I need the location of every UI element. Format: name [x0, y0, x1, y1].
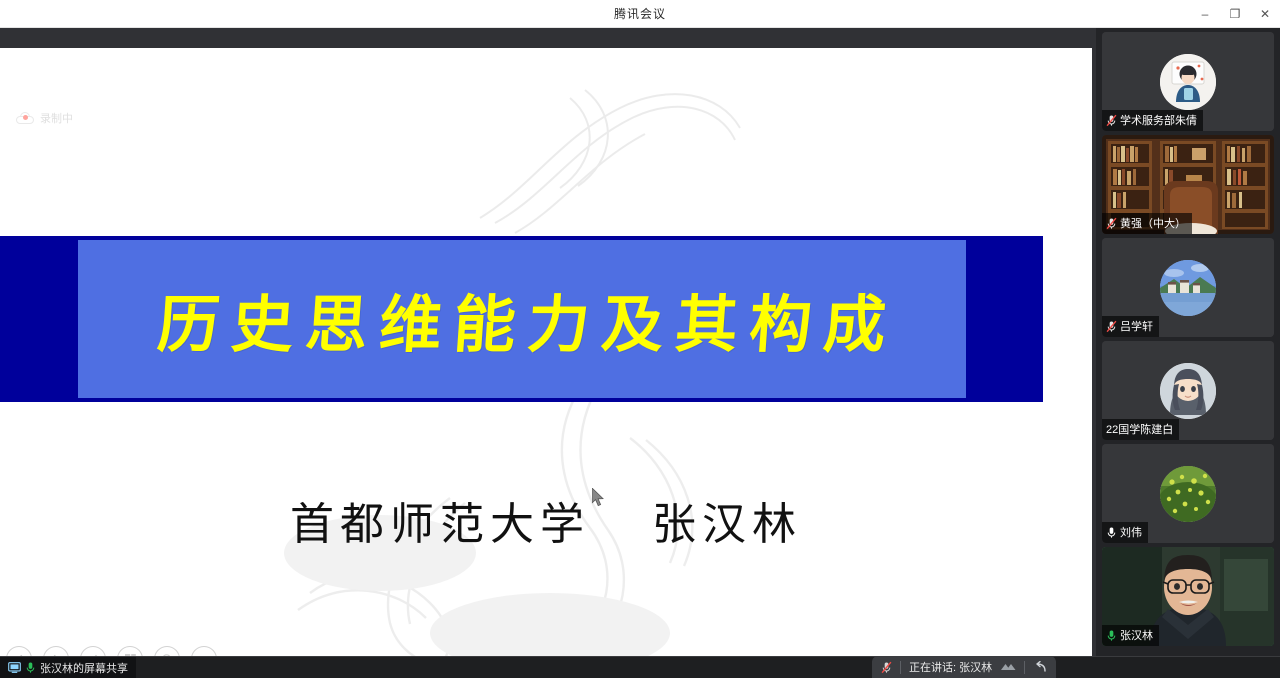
- zoom-button[interactable]: [154, 646, 180, 656]
- mic-muted-icon: [1106, 114, 1117, 127]
- arrow-back-icon[interactable]: [1033, 661, 1047, 673]
- participant-tile[interactable]: 刘伟: [1102, 444, 1274, 543]
- mic-muted-icon[interactable]: [881, 661, 892, 674]
- minimize-button[interactable]: –: [1190, 0, 1220, 28]
- participant-name: 张汉林: [1120, 627, 1153, 643]
- slide-title: 历史思维能力及其构成: [72, 240, 971, 398]
- speaking-indicator-bar[interactable]: 正在讲话: 张汉林: [872, 656, 1056, 678]
- participant-tile[interactable]: 黄强（中大）: [1102, 135, 1274, 234]
- previous-slide-button[interactable]: [6, 646, 32, 656]
- status-bar: 张汉林的屏幕共享 正在讲话: 张汉林: [0, 656, 1280, 678]
- participant-name: 吕学轩: [1120, 318, 1153, 334]
- screen-share-label: 张汉林的屏幕共享: [40, 660, 128, 676]
- speaking-label: 正在讲话: 张汉林: [909, 659, 992, 675]
- participant-name-bar: 刘伟: [1102, 522, 1148, 543]
- more-options-button[interactable]: [191, 646, 217, 656]
- avatar: [1160, 260, 1216, 316]
- window-title: 腾讯会议: [614, 5, 666, 22]
- mic-muted-icon: [1106, 320, 1117, 333]
- participant-rail[interactable]: 学术服务部朱倩: [1096, 28, 1280, 656]
- recording-label: 录制中: [40, 110, 73, 126]
- mouse-cursor: [592, 488, 605, 512]
- participant-tile[interactable]: 学术服务部朱倩: [1102, 32, 1274, 131]
- tencent-meeting-window: 腾讯会议 – ❐ ✕: [0, 0, 1280, 678]
- next-slide-button[interactable]: [43, 646, 69, 656]
- mic-muted-icon: [1106, 217, 1117, 230]
- title-bar: 腾讯会议 – ❐ ✕: [0, 0, 1280, 28]
- cloud-recording-indicator: 录制中: [16, 110, 73, 126]
- maximize-button[interactable]: ❐: [1220, 0, 1250, 28]
- avatar: [1160, 54, 1216, 110]
- participant-name: 黄强（中大）: [1120, 215, 1186, 231]
- participant-tile-active-speaker[interactable]: 张汉林: [1102, 547, 1274, 646]
- divider: [900, 661, 901, 674]
- slide-affiliation: 首都师范大学: [290, 499, 590, 550]
- pen-tool-button[interactable]: [80, 646, 106, 656]
- avatar: [1160, 363, 1216, 419]
- presentation-slide[interactable]: 录制中 历史思维能力及其构成 首都师范大学张汉林: [0, 48, 1092, 656]
- shared-screen-area: 录制中 历史思维能力及其构成 首都师范大学张汉林: [0, 28, 1096, 656]
- presenter-toolbar: [6, 646, 217, 656]
- mic-on-icon: [1106, 629, 1117, 642]
- participant-name-bar: 黄强（中大）: [1102, 213, 1192, 234]
- screen-share-indicator[interactable]: 张汉林的屏幕共享: [0, 657, 136, 678]
- participant-name-bar: 吕学轩: [1102, 316, 1159, 337]
- share-top-strip: [0, 28, 1096, 48]
- screen-share-icon: [8, 662, 21, 673]
- all-slides-button[interactable]: [117, 646, 143, 656]
- participant-name-bar: 22国学陈建白: [1102, 419, 1179, 440]
- participant-name: 22国学陈建白: [1106, 421, 1173, 437]
- ink-wash-decoration-top: [420, 68, 760, 248]
- participant-name-bar: 张汉林: [1102, 625, 1159, 646]
- avatar: [1160, 466, 1216, 522]
- participant-name-bar: 学术服务部朱倩: [1102, 110, 1203, 131]
- mic-on-icon: [1106, 526, 1117, 539]
- close-button[interactable]: ✕: [1250, 0, 1280, 28]
- slide-title-banner: 历史思维能力及其构成: [0, 236, 1043, 402]
- participant-name: 刘伟: [1120, 524, 1142, 540]
- chevron-icon[interactable]: [1000, 661, 1016, 673]
- window-controls: – ❐ ✕: [1190, 0, 1280, 28]
- divider: [1024, 661, 1025, 674]
- slide-subtitle: 首都师范大学张汉林: [0, 488, 1092, 552]
- participant-tile[interactable]: 吕学轩: [1102, 238, 1274, 337]
- participant-name: 学术服务部朱倩: [1120, 112, 1197, 128]
- slide-presenter: 张汉林: [652, 499, 802, 550]
- mic-on-icon: [25, 661, 36, 674]
- participant-tile[interactable]: 22国学陈建白: [1102, 341, 1274, 440]
- cloud-record-icon: [16, 112, 34, 124]
